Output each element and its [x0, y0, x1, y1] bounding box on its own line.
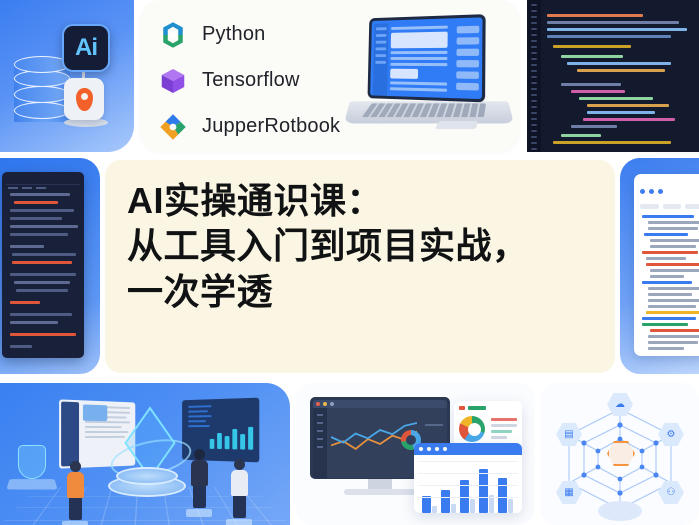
course-poster: Ai Python [0, 0, 699, 525]
document-line [646, 263, 699, 266]
tool-label: Tensorflow [202, 69, 300, 92]
terminal-line [10, 245, 44, 248]
tools-panel: Python Tensorflow [140, 0, 520, 152]
tool-label: Python [202, 23, 265, 46]
bar-secondary [508, 499, 513, 513]
page-title: AI实操通识课： 从工具入门到项目实战， 一次学透 [127, 178, 597, 314]
bar-secondary [470, 499, 475, 513]
document-line [650, 239, 699, 242]
terminal-line [10, 333, 76, 336]
terminal-line [10, 209, 74, 212]
bar [441, 490, 450, 513]
terminal-line [10, 301, 40, 304]
bar-chart-card [414, 443, 522, 513]
donut-card [454, 401, 522, 449]
document-line [650, 329, 699, 332]
terminal-code-lines [6, 189, 80, 349]
code-line [561, 55, 623, 58]
browser-titlebar [313, 400, 447, 408]
code-line [553, 45, 631, 48]
terminal-window [2, 172, 84, 358]
tensorflow-cube-icon [158, 66, 188, 96]
document-line [642, 317, 696, 320]
terminal-line [10, 233, 68, 236]
document-tabs [640, 204, 699, 209]
team-illustration-panel [0, 383, 290, 525]
document-line [648, 221, 699, 224]
tool-label: JupperRotbook [202, 115, 340, 138]
bar-secondary [451, 504, 456, 513]
terminal-line [10, 313, 72, 316]
mini-bar [225, 436, 230, 449]
bar [422, 496, 431, 513]
shield-hologram-icon [18, 445, 46, 479]
document-line [650, 245, 696, 248]
gridline [418, 473, 518, 474]
terminal-line [10, 345, 32, 348]
bar-secondary [432, 506, 437, 513]
database-ai-panel: Ai [0, 0, 134, 152]
document-line [648, 227, 698, 230]
person-figure [186, 449, 212, 517]
window-dots-icon [640, 181, 699, 199]
laptop-illustration [345, 14, 515, 142]
mini-bar [248, 427, 253, 450]
tool-list: Python Tensorflow [158, 14, 340, 152]
terminal-line [14, 201, 58, 204]
document-line [648, 299, 699, 302]
document-lines [640, 215, 699, 350]
code-line [579, 97, 653, 100]
code-line [547, 14, 643, 17]
code-line [577, 69, 665, 72]
document-line [648, 293, 692, 296]
terminal-line [10, 225, 78, 228]
hologram-podium [108, 467, 186, 497]
mini-bar [240, 434, 245, 449]
document-line [648, 347, 684, 350]
document-line [648, 335, 699, 338]
network-diagram-panel: ☁▤⚙▦⚇ [540, 383, 699, 525]
document-card [634, 174, 699, 356]
gridline [418, 461, 518, 462]
person-figure [226, 459, 252, 525]
terminal-panel [0, 158, 100, 374]
terminal-titlebar [6, 176, 80, 185]
person-figure [62, 461, 88, 525]
terminal-line [10, 217, 62, 220]
gridline [418, 485, 518, 486]
document-line [648, 287, 699, 290]
code-line [587, 111, 655, 114]
document-line [642, 215, 694, 218]
document-panel [620, 158, 699, 374]
terminal-line [16, 289, 68, 292]
code-line [547, 35, 671, 38]
document-line [646, 311, 699, 314]
location-pin-icon [64, 78, 104, 120]
tool-item-tensorflow: Tensorflow [158, 60, 340, 101]
code-line [547, 21, 679, 24]
code-editor-panel [527, 0, 699, 152]
bar-chart [414, 455, 522, 513]
code-line [561, 83, 621, 86]
document-line [650, 269, 699, 272]
python-logo-icon [158, 20, 188, 50]
code-line [553, 141, 671, 144]
database-stack-icon [14, 56, 70, 128]
bar [479, 469, 488, 513]
line-number-gutter [527, 0, 541, 152]
terminal-line [12, 253, 76, 256]
document-line [648, 341, 698, 344]
code-line [561, 134, 601, 137]
document-line [646, 257, 686, 260]
title-card: AI实操通识课： 从工具入门到项目实战， 一次学透 [105, 160, 615, 373]
bar [498, 478, 507, 513]
terminal-line [10, 321, 58, 324]
jupyter-diamond-icon [158, 112, 188, 142]
document-line [648, 305, 696, 308]
code-line [571, 125, 617, 128]
document-line [644, 233, 688, 236]
document-line [642, 323, 688, 326]
code-line [547, 28, 687, 31]
card-titlebar [414, 443, 522, 455]
terminal-line [10, 273, 76, 276]
mini-bar [217, 433, 222, 449]
terminal-line [14, 281, 70, 284]
code-line [571, 90, 625, 93]
tool-item-jupyter: JupperRotbook [158, 106, 340, 147]
code-line [583, 118, 675, 121]
document-line [650, 275, 684, 278]
code-line [587, 104, 669, 107]
gridline [418, 497, 518, 498]
ai-badge: Ai [62, 24, 110, 72]
document-line [642, 251, 698, 254]
tool-item-python: Python [158, 14, 340, 55]
dashboard-illustration-panel [296, 383, 535, 525]
document-line [642, 281, 692, 284]
terminal-line [12, 261, 72, 264]
terminal-line [10, 193, 70, 196]
mini-bar [232, 429, 237, 449]
mini-bar [210, 439, 215, 449]
code-line [567, 62, 671, 65]
